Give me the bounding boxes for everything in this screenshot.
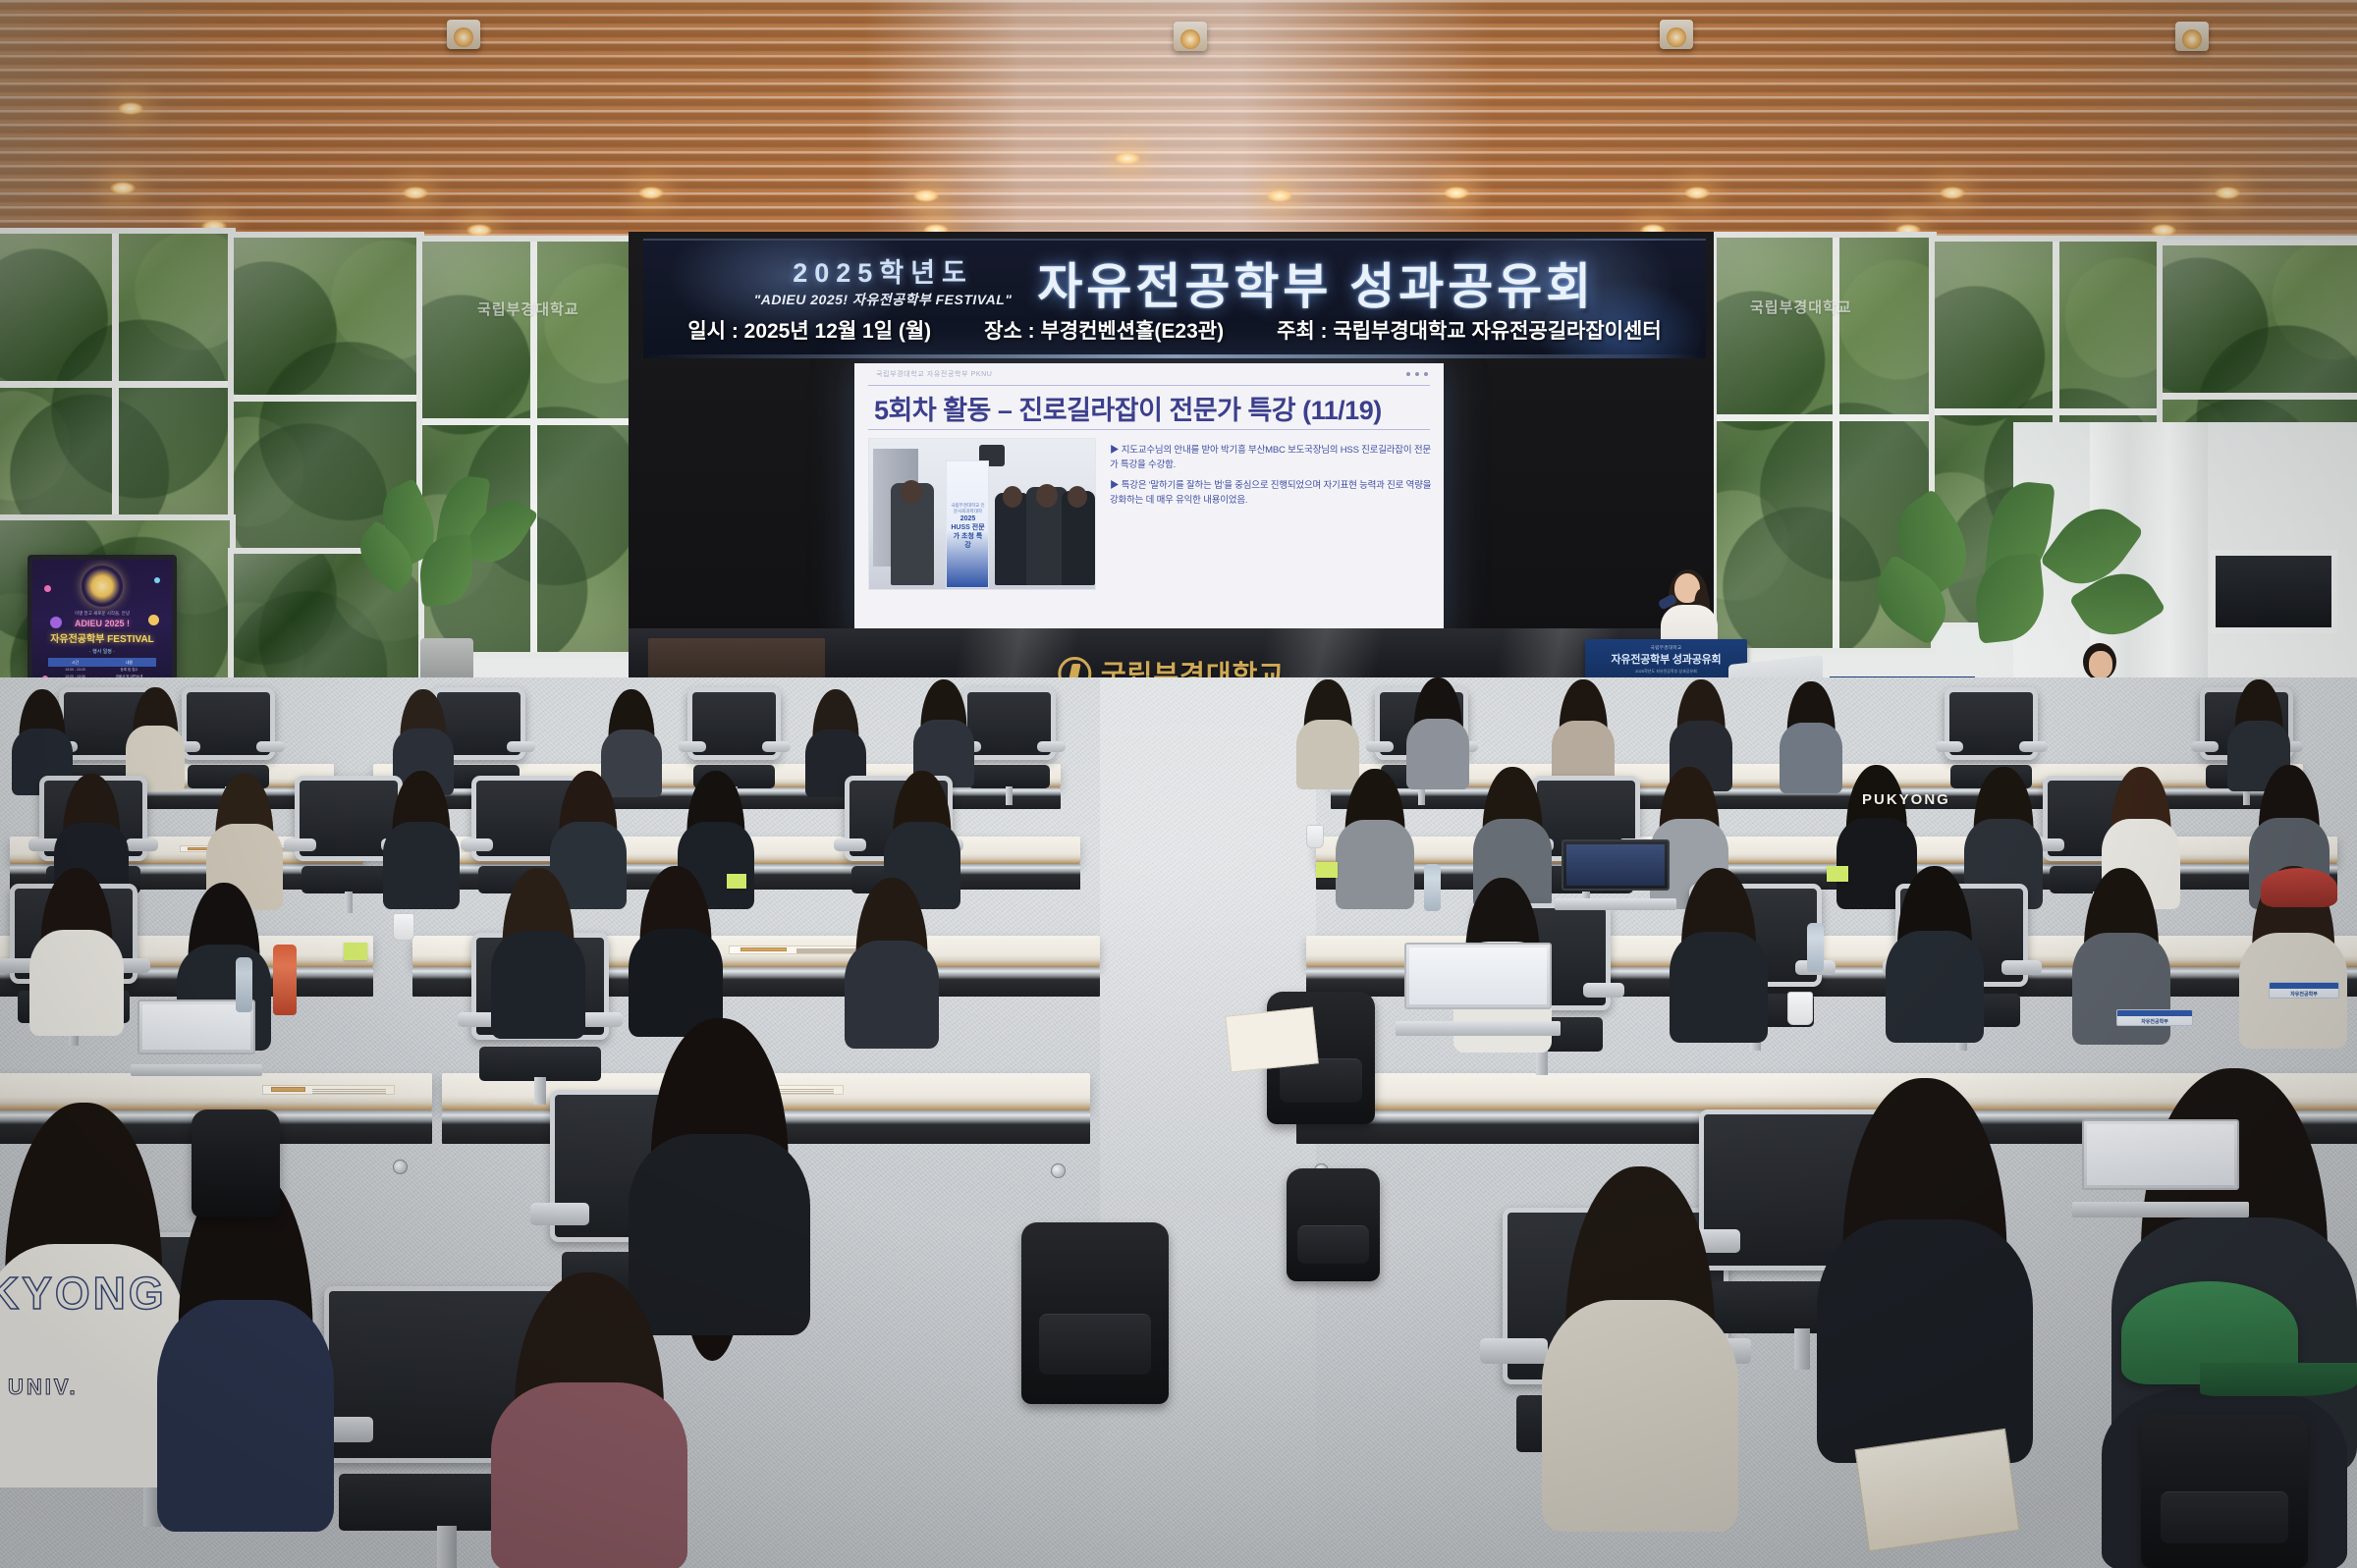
photo-banner-caption: 국립부경대학교 인문사회과학대학 2025 HUSS 전문가 초청 특강 <box>951 503 985 550</box>
banner-year-block: 2025학년도 "ADIEU 2025! 자유전공학부 FESTIVAL" <box>754 260 1013 306</box>
desk-handout <box>262 1085 394 1095</box>
attendee-torso <box>491 931 585 1039</box>
ceiling-downlight <box>110 182 136 194</box>
photo-person-head <box>1068 486 1087 508</box>
backpack <box>2141 1414 2308 1568</box>
laptop-lid <box>2082 1119 2239 1190</box>
laptop-base <box>1396 1021 1561 1036</box>
nameplate-label: 자유전공학부 <box>2290 991 2318 998</box>
desk-nameplate: 자유전공학부 <box>2269 982 2339 999</box>
banner-date: 일시 : 2025년 12월 1일 (월) <box>687 315 931 345</box>
attendee <box>1670 864 1768 1043</box>
nameplate-label: 자유전공학부 <box>2141 1018 2168 1025</box>
photo-rollup-banner: 국립부경대학교 인문사회과학대학 2025 HUSS 전문가 초청 특강 <box>946 460 989 588</box>
ceiling-downlight <box>1684 187 1710 199</box>
slide-header: 국립부경대학교 자유전공학부 PKNU <box>854 363 1444 385</box>
schedule-time: 13:00 - 13:20 <box>48 667 102 674</box>
decor-dot <box>44 585 51 592</box>
backpack-pocket <box>1039 1314 1151 1376</box>
attendee-torso <box>2072 933 2170 1045</box>
backpack-pocket <box>2161 1491 2287 1543</box>
attendee <box>845 874 939 1049</box>
attendee-torso <box>491 1382 687 1568</box>
foreground-attendee-beige <box>1542 1159 1738 1532</box>
schedule-content: 등록 및 접수 <box>102 667 156 674</box>
ceiling-downlight <box>403 187 428 199</box>
slide-dots-icon <box>1406 372 1428 376</box>
tote-bag <box>192 1109 280 1217</box>
attendee-torso <box>1886 931 1984 1043</box>
sticky-note <box>1316 862 1338 878</box>
desk-caster <box>393 1160 408 1174</box>
attendee-torso <box>1336 820 1414 909</box>
projection-screen: 국립부경대학교 자유전공학부 PKNU 5회차 활동 – 진로길라잡이 전문가 … <box>854 363 1444 643</box>
banner-place: 장소 : 부경컨벤션홀(E23관) <box>984 315 1224 345</box>
track-spotlight <box>1174 22 1207 51</box>
laptop-screen <box>1566 844 1665 886</box>
banner-underline <box>643 354 1706 358</box>
podium-sign-primary: 국립부경대학교 자유전공학부 성과공유회 2025학년도 자유전공학부 성과공유… <box>1585 639 1747 680</box>
attendee <box>491 864 585 1039</box>
slide-body: 국립부경대학교 인문사회과학대학 2025 HUSS 전문가 초청 특강 ▶ 지… <box>868 438 1434 633</box>
slide-photo: 국립부경대학교 인문사회과학대학 2025 HUSS 전문가 초청 특강 <box>868 438 1096 590</box>
potted-plant-left <box>383 481 511 687</box>
foreground-attendee-pink <box>491 1267 687 1568</box>
decor-dot <box>154 577 160 583</box>
signage-line2: 자유전공학부 FESTIVAL <box>32 630 172 645</box>
laptop-screen <box>142 1004 250 1050</box>
varsity-back-text: KYONG <box>0 1267 167 1320</box>
attendee <box>383 768 460 909</box>
attendee <box>29 864 124 1036</box>
window-glare <box>0 234 230 516</box>
attendee <box>1886 862 1984 1043</box>
banner-main-title: 자유전공학부 성과공유회 <box>1037 247 1595 318</box>
window-left-1 <box>0 228 236 522</box>
desk-caster <box>1051 1163 1066 1178</box>
attendee-torso <box>1780 723 1842 793</box>
track-spotlight <box>2175 22 2209 51</box>
banner-host: 주최 : 국립부경대학교 자유전공길라잡이센터 <box>1277 315 1662 345</box>
backpack-pocket <box>1297 1225 1368 1264</box>
ceiling-downlight <box>913 189 939 202</box>
slide-title: 5회차 활동 – 진로길라잡이 전문가 특강 (11/19) <box>874 389 1382 427</box>
attendee <box>1552 677 1615 791</box>
photo-banner-org: 국립부경대학교 인문사회과학대학 <box>951 503 985 514</box>
window-decal-left: 국립부경대학교 <box>477 298 579 319</box>
attendee-torso <box>157 1300 334 1532</box>
signage-tagline: 이별 말고 새로운 시작을, 안녕 <box>32 611 172 617</box>
ceiling-downlight <box>1115 152 1140 165</box>
attendee-torso <box>1542 1300 1738 1532</box>
paper-cup[interactable] <box>1306 825 1324 848</box>
photo-person-head <box>1036 484 1058 508</box>
ceiling-downlight <box>638 187 664 199</box>
ceiling-downlight <box>2215 187 2240 199</box>
paper-cup[interactable] <box>393 913 414 941</box>
podium-sign-bottom: 2025학년도 자유전공학부 성과공유회 <box>1635 669 1697 675</box>
sticky-note <box>1827 866 1848 882</box>
photo-person-head <box>901 480 922 504</box>
backpack <box>1021 1222 1169 1404</box>
banner-year: 2025학년도 <box>754 260 1013 287</box>
backpack <box>1287 1168 1380 1281</box>
laptop[interactable] <box>1404 943 1552 1036</box>
chair[interactable] <box>962 687 1056 805</box>
attendee-torso <box>383 822 460 909</box>
attendee-torso <box>845 941 939 1049</box>
podium-sign-main: 자유전공학부 성과공유회 <box>1612 651 1722 667</box>
laptop[interactable] <box>2082 1119 2239 1217</box>
foreground-attendee-far-right <box>1817 1070 2033 1463</box>
banner-subtitle: "ADIEU 2025! 자유전공학부 FESTIVAL" <box>754 293 1013 306</box>
ceiling-downlight <box>118 102 143 115</box>
fireworks-icon <box>82 566 123 607</box>
attendee <box>1780 679 1842 793</box>
laptop[interactable] <box>1562 839 1670 910</box>
water-bottle[interactable] <box>1424 864 1441 911</box>
control-room-window <box>2210 550 2337 633</box>
banner-title-row: 2025학년도 "ADIEU 2025! 자유전공학부 FESTIVAL" 자유… <box>643 250 1706 315</box>
attendee <box>1406 676 1469 789</box>
slide-text-block: ▶ 지도교수님의 안내를 받아 박기흥 부산MBC 보도국장님의 HSS 진로길… <box>1110 438 1434 633</box>
track-spotlight <box>447 20 480 49</box>
pukyong-jacket-label: PUKYONG <box>1862 791 1950 808</box>
photo-banner-title: 2025 HUSS 전문가 초청 특강 <box>951 515 984 548</box>
laptop-base <box>2072 1202 2248 1217</box>
water-bottle[interactable] <box>1807 923 1824 972</box>
ceiling-left-shadow <box>0 0 246 245</box>
laptop-screen <box>2087 1124 2234 1185</box>
slide-title-bar: 5회차 활동 – 진로길라잡이 전문가 특강 (11/19) <box>868 385 1430 430</box>
ceiling-downlight <box>1940 187 1965 199</box>
red-cap <box>2261 868 2337 907</box>
varsity-sub-text: UNIV. <box>8 1375 79 1400</box>
attendee-torso <box>1817 1219 2033 1463</box>
attendee <box>1336 766 1414 909</box>
laptop-base <box>131 1064 262 1076</box>
attendee-torso <box>1406 719 1469 789</box>
signage-poster: 이별 말고 새로운 시작을, 안녕 ADIEU 2025 ! 자유전공학부 FE… <box>32 560 172 695</box>
document-on-floor <box>1225 1006 1319 1072</box>
desk <box>1316 837 2337 864</box>
laptop-base <box>1555 898 1675 910</box>
signage-section: · 행사 일정 · <box>32 648 172 655</box>
wooden-slat-ceiling <box>0 0 2357 245</box>
laptop-lid <box>1562 839 1670 891</box>
podium-sign-top: 국립부경대학교 <box>1651 645 1682 651</box>
slide-header-label: 국립부경대학교 자유전공학부 PKNU <box>876 369 992 379</box>
ceiling-downlight <box>1444 187 1469 199</box>
schedule-header-row: 시간 내용 <box>48 658 156 667</box>
program-booklet <box>1854 1429 2019 1552</box>
schedule-col-content: 내용 <box>102 658 156 667</box>
sticky-note <box>344 943 367 960</box>
signage-line1: ADIEU 2025 ! <box>32 619 172 628</box>
slide-bullet-2: ▶ 특강은 '말하기를 잘하는 법'을 중심으로 진행되었으며 자기표현 능력과… <box>1110 479 1434 508</box>
paper-cup[interactable] <box>1787 992 1813 1025</box>
attendee-torso <box>29 930 124 1037</box>
schedule-row: 13:00 - 13:20등록 및 접수 <box>48 667 156 674</box>
sticky-note <box>727 874 746 889</box>
laptop-screen <box>1409 947 1547 1004</box>
conference-hall-photo: 국립부경대학교 국립부경대학교 <box>0 0 2357 1568</box>
water-bottle[interactable] <box>236 957 252 1012</box>
banner-info-row: 일시 : 2025년 12월 1일 (월) 장소 : 부경컨벤션홀(E23관) … <box>643 313 1706 347</box>
schedule-col-time: 시간 <box>48 658 102 667</box>
event-banner: 2025학년도 "ADIEU 2025! 자유전공학부 FESTIVAL" 자유… <box>643 239 1706 358</box>
slide-bullet-1: ▶ 지도교수님의 안내를 받아 박기흥 부산MBC 보도국장님의 HSS 진로길… <box>1110 444 1434 472</box>
window-decal-right: 국립부경대학교 <box>1750 297 1852 317</box>
cap-brim <box>2200 1363 2357 1396</box>
attendee-torso <box>1670 932 1768 1043</box>
thermos-bottle[interactable] <box>273 945 297 1015</box>
photo-person-head <box>1003 486 1022 508</box>
desk-nameplate: 자유전공학부 <box>2116 1009 2193 1026</box>
laptop-lid <box>1404 943 1552 1009</box>
ceiling-downlight <box>1267 189 1292 202</box>
track-spotlight <box>1660 20 1693 49</box>
